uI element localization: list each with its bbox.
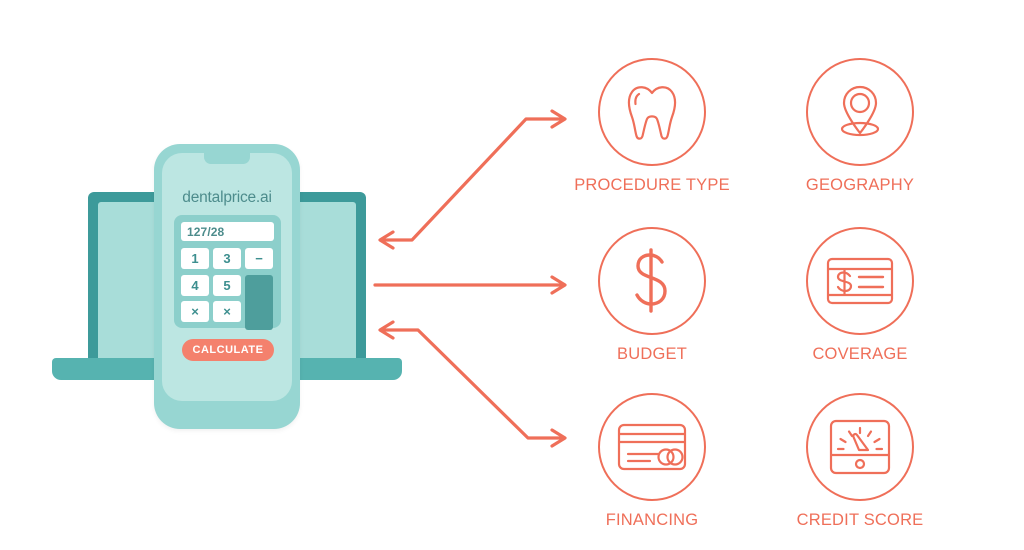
credit-card-icon [616,421,688,473]
arrow-to-financing [380,322,565,446]
factor-procedure-type-circle [598,58,706,166]
factor-procedure-type-label: PROCEDURE TYPE [552,176,752,195]
arrow-to-budget [375,277,565,293]
factor-credit-score-label: CREDIT SCORE [760,511,960,530]
calc-key-multiply-2[interactable]: × [213,301,241,322]
tooth-icon [623,81,681,143]
calculator-panel: 127/28 1 3 − 4 5 × × [174,215,281,328]
calculate-button[interactable]: CALCULATE [182,339,274,361]
calculator-display[interactable]: 127/28 [181,222,274,241]
calc-key-multiply-1[interactable]: × [181,301,209,322]
infographic-canvas: dentalprice.ai 127/28 1 3 − 4 5 × × CALC… [0,0,1024,550]
phone-notch-icon [204,153,250,164]
check-card-icon [825,255,895,307]
phone-device: dentalprice.ai 127/28 1 3 − 4 5 × × CALC… [154,144,300,429]
factor-credit-score[interactable]: CREDIT SCORE [760,393,960,530]
factor-coverage-label: COVERAGE [760,345,960,364]
factor-procedure-type[interactable]: PROCEDURE TYPE [552,58,752,195]
calc-key-minus[interactable]: − [245,248,273,269]
dollar-sign-icon [629,248,675,314]
map-pin-icon [830,81,890,143]
calc-key-equals[interactable] [245,275,273,330]
device-illustration: dentalprice.ai 127/28 1 3 − 4 5 × × CALC… [40,130,400,440]
calc-key-1[interactable]: 1 [181,248,209,269]
factor-financing-circle [598,393,706,501]
factor-budget[interactable]: BUDGET [552,227,752,364]
factor-budget-label: BUDGET [552,345,752,364]
calculator-display-value: 127/28 [187,225,224,239]
factor-budget-circle [598,227,706,335]
calc-key-5[interactable]: 5 [213,275,241,296]
factor-credit-score-circle [806,393,914,501]
app-brand-name: dentalprice.ai [162,189,292,207]
factor-financing-label: FINANCING [552,511,752,530]
factor-icon-grid: PROCEDURE TYPE GEOGRAPHY BUDGET [570,40,990,550]
factor-coverage-circle [806,227,914,335]
gauge-icon [828,417,892,477]
factor-geography[interactable]: GEOGRAPHY [760,58,960,195]
factor-geography-circle [806,58,914,166]
factor-financing[interactable]: FINANCING [552,393,752,530]
calc-key-3[interactable]: 3 [213,248,241,269]
arrow-to-procedure-type [380,111,565,248]
factor-coverage[interactable]: COVERAGE [760,227,960,364]
calc-key-4[interactable]: 4 [181,275,209,296]
factor-geography-label: GEOGRAPHY [760,176,960,195]
phone-screen: dentalprice.ai 127/28 1 3 − 4 5 × × CALC… [162,153,292,401]
